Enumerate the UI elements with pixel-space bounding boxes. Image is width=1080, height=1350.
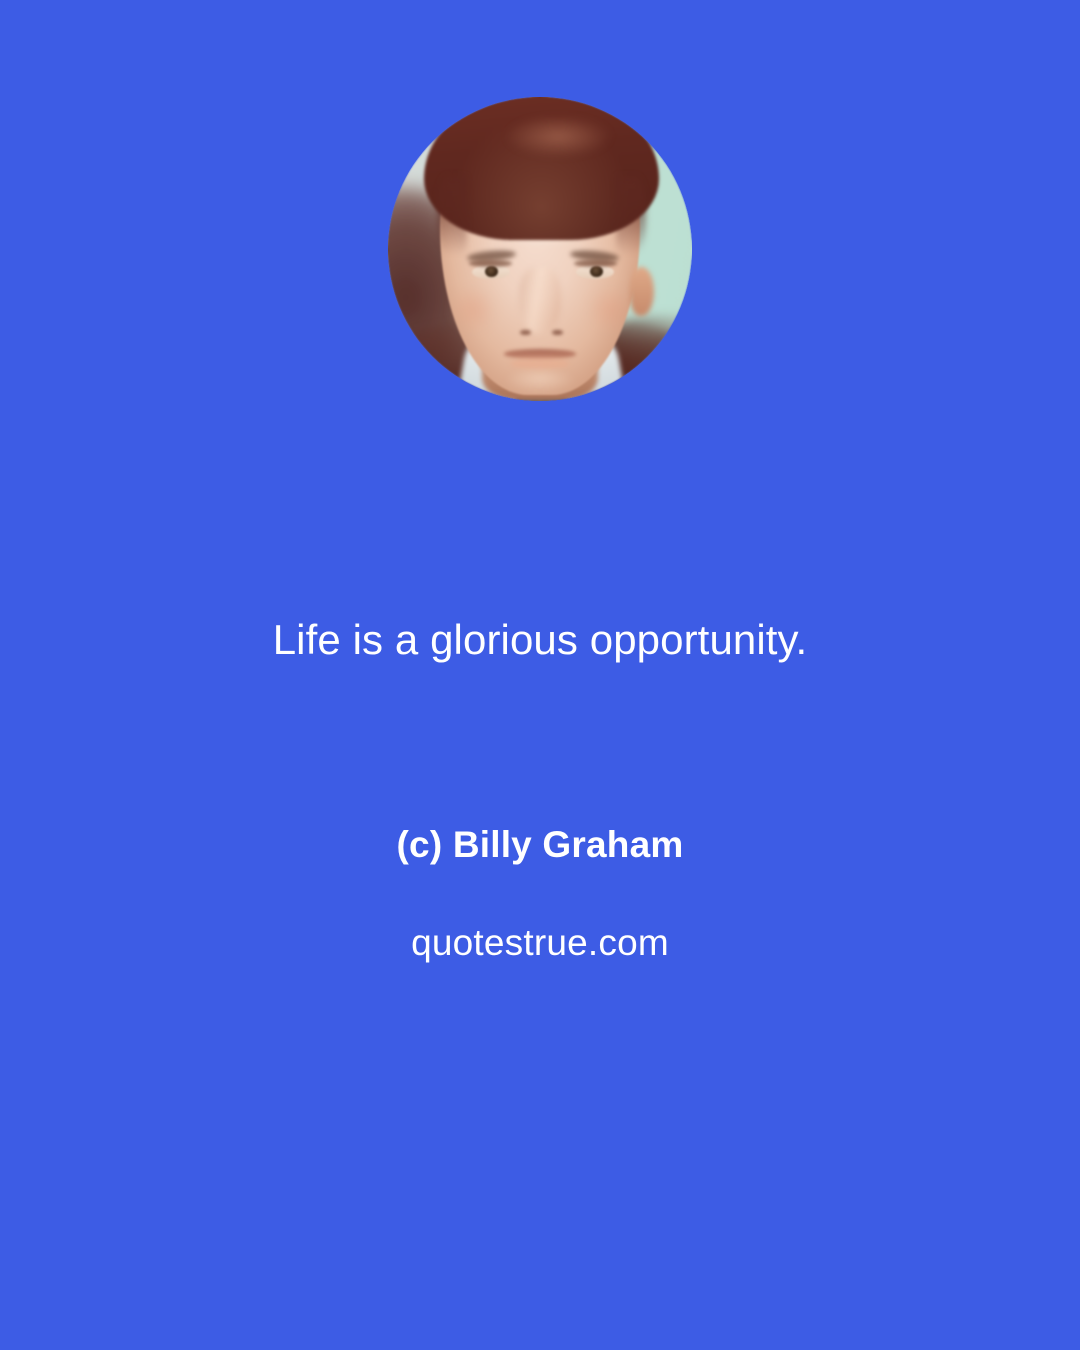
- cheek-right: [586, 285, 635, 334]
- nose: [519, 267, 562, 334]
- eye-right: [576, 265, 614, 279]
- nostril-left: [520, 330, 530, 335]
- eyelid-left: [469, 260, 512, 267]
- nostril-right: [552, 330, 562, 335]
- source-website: quotestrue.com: [0, 922, 1080, 964]
- quote-text: Life is a glorious opportunity.: [0, 614, 1080, 667]
- author-portrait-avatar: [388, 97, 692, 401]
- sideburn-right: [616, 176, 646, 255]
- sideburn-left: [437, 176, 467, 255]
- eyelid-right: [574, 260, 617, 267]
- iris-right: [590, 266, 603, 277]
- hair-highlight: [504, 115, 613, 158]
- portrait-photo: [388, 97, 692, 401]
- cheek-left: [449, 285, 498, 334]
- quote-attribution: (c) Billy Graham: [0, 824, 1080, 866]
- quote-card: Life is a glorious opportunity. (c) Bill…: [0, 0, 1080, 1350]
- iris-left: [485, 266, 498, 277]
- eye-left: [472, 265, 510, 279]
